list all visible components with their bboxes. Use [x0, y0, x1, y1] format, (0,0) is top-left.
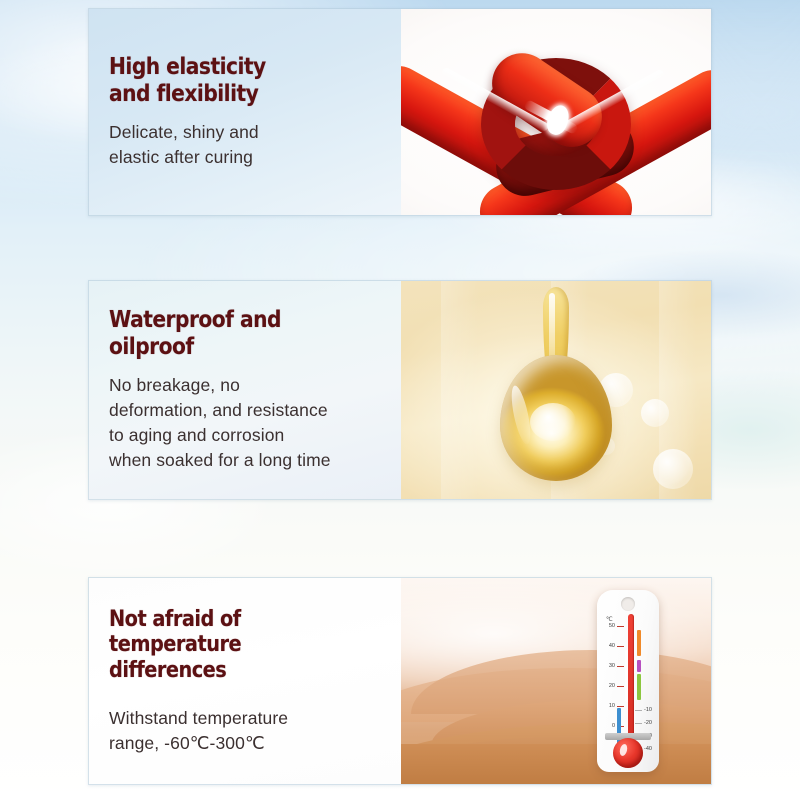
scale-tick-label: -10	[644, 708, 652, 714]
thermometer-bulb	[613, 738, 643, 768]
purple-range-bar	[637, 660, 641, 672]
panel-heading: High elasticity and flexibility	[109, 54, 350, 108]
bokeh-circle	[641, 399, 669, 427]
feature-panel-temperature: Not afraid of temperature differences Wi…	[88, 577, 712, 785]
scale-tick-label: 10	[604, 704, 615, 710]
panel-text-block: High elasticity and flexibility Delicate…	[89, 9, 401, 215]
scale-tick-label: 30	[604, 664, 615, 670]
thermometer-unit-label: ℃	[606, 616, 613, 623]
panel-heading: Waterproof and oilproof	[109, 307, 350, 361]
scale-tick-mark	[635, 710, 642, 711]
scale-tick-mark	[617, 686, 624, 687]
red-knotted-silicone-tube-photo	[401, 9, 711, 215]
feature-panel-waterproof: Waterproof and oilproof No breakage, no …	[88, 280, 712, 500]
desert-scene-background: ℃ 50 40 30 20	[401, 578, 711, 784]
scale-tick-mark	[617, 666, 624, 667]
desert-thermometer-photo: ℃ 50 40 30 20	[401, 578, 711, 784]
scale-tick-label: 50	[604, 624, 615, 630]
oil-droplet	[500, 287, 612, 487]
scale-tick-label: 40	[604, 644, 615, 650]
panel-text-block: Waterproof and oilproof No breakage, no …	[89, 281, 401, 499]
knot-scene-background	[401, 9, 711, 215]
oil-light-stripe	[441, 281, 479, 499]
panel-text-block: Not afraid of temperature differences Wi…	[89, 578, 401, 784]
scale-tick-mark	[617, 706, 624, 707]
panel-body-text: Delicate, shiny and elastic after curing	[109, 120, 383, 170]
thermometer-mercury-column	[628, 614, 634, 740]
bokeh-circle	[653, 449, 693, 489]
orange-range-bar	[637, 630, 641, 656]
golden-oil-droplet-photo	[401, 281, 711, 499]
feature-panel-elasticity: High elasticity and flexibility Delicate…	[88, 8, 712, 216]
panel-body-text: No breakage, no deformation, and resista…	[109, 373, 383, 472]
thermometer-hanging-hole	[621, 597, 635, 611]
scale-tick-label: 20	[604, 684, 615, 690]
scale-tick-label: -40	[644, 747, 652, 753]
scale-tick-mark	[635, 723, 642, 724]
scale-tick-label: -20	[644, 721, 652, 727]
green-range-bar	[637, 674, 641, 700]
panel-heading: Not afraid of temperature differences	[109, 607, 350, 684]
oil-scene-background	[401, 281, 711, 499]
wall-thermometer: ℃ 50 40 30 20	[597, 590, 659, 772]
bulb-highlight	[619, 743, 629, 756]
panel-body-text: Withstand temperature range, -60℃-300℃	[109, 706, 383, 756]
droplet-core-highlight	[530, 403, 576, 441]
foreground-sand	[401, 744, 711, 784]
thermometer-positive-scale: 50 40 30 20	[604, 626, 626, 744]
scale-tick-mark	[617, 646, 624, 647]
scale-tick-label: 0	[604, 724, 615, 730]
scale-tick-mark	[617, 626, 624, 627]
